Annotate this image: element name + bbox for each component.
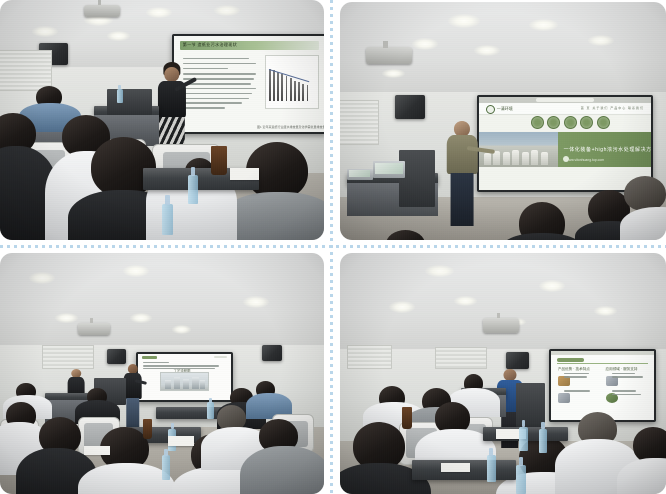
slide-surface: 工艺流程图 bbox=[138, 354, 231, 401]
seminar-photo-wide-room: 工艺流程图 bbox=[0, 253, 324, 494]
hero-banner: 一体化装备+high浓污水处理解决方案 www.vitonhuang.top.c… bbox=[479, 132, 651, 167]
window-blind bbox=[340, 100, 379, 145]
projection-screen: 工艺流程图 bbox=[136, 352, 233, 403]
collage-photo-top-right: 一清环境 首 页 关于我们 产品中心 联系我们 bbox=[340, 2, 666, 240]
collage-photo-bottom-right: 产品优势 · 技术特点 应用领域 · 服务支持 bbox=[340, 253, 666, 494]
feature-heading: 产品优势 · 技术特点 bbox=[558, 367, 590, 372]
ceiling-light-icon bbox=[474, 45, 500, 56]
feature-circle-icon bbox=[547, 116, 560, 129]
laptop bbox=[347, 169, 373, 181]
water-bottle bbox=[188, 175, 198, 204]
slide-badge bbox=[142, 356, 157, 359]
slide-report: 第一节 造纸业污水治理现状 bbox=[174, 36, 324, 133]
ceiling-light-icon bbox=[55, 313, 78, 323]
feature-item bbox=[558, 393, 570, 403]
ceiling-light-icon bbox=[454, 296, 477, 306]
collage-photo-bottom-left: 工艺流程图 bbox=[0, 253, 324, 494]
feature-circles bbox=[531, 116, 610, 129]
slide-chart bbox=[265, 55, 320, 109]
water-bottle bbox=[539, 429, 547, 453]
projection-screen: 第一节 造纸业污水治理现状 bbox=[172, 34, 324, 135]
browser-url-bar bbox=[536, 98, 594, 102]
hero-url: www.vitonhuang.top.com bbox=[566, 158, 604, 162]
slide-surface: 第一节 造纸业污水治理现状 bbox=[174, 36, 324, 133]
feature-heading: 应用领域 · 服务支持 bbox=[606, 367, 638, 372]
notepad bbox=[230, 168, 259, 180]
window-blind bbox=[347, 345, 393, 369]
ceiling-light-icon bbox=[123, 265, 149, 277]
slide-surface: 产品优势 · 技术特点 应用领域 · 服务支持 bbox=[551, 351, 655, 419]
slide-surface: 一清环境 首 页 关于我们 产品中心 联系我们 bbox=[479, 97, 651, 191]
ceiling-light-icon bbox=[107, 31, 130, 41]
coffee-cup bbox=[143, 419, 153, 438]
wall-speaker-icon bbox=[262, 345, 281, 362]
slide-section-badge bbox=[557, 358, 584, 363]
window-blind bbox=[0, 50, 52, 91]
ceiling-light-icon bbox=[588, 35, 614, 46]
seminar-photo-website-slide: 一清环境 首 页 关于我们 产品中心 联系我们 bbox=[340, 2, 666, 240]
av-cabinet bbox=[107, 89, 152, 115]
site-logo: 一清环境 bbox=[486, 105, 513, 114]
projection-screen: 一清环境 首 页 关于我们 产品中心 联系我们 bbox=[477, 95, 653, 193]
coffee-cup bbox=[211, 146, 227, 175]
water-bottle bbox=[207, 402, 214, 419]
slide-divider bbox=[557, 363, 648, 364]
feature-item bbox=[606, 376, 618, 386]
feature-icon bbox=[606, 376, 618, 386]
slide-diagram-image bbox=[160, 372, 208, 391]
site-brand-name: 一清环境 bbox=[497, 106, 513, 112]
slide-website: 一清环境 首 页 关于我们 产品中心 联系我们 bbox=[479, 97, 651, 191]
presenter-figure bbox=[441, 121, 483, 226]
water-bottle bbox=[516, 465, 526, 494]
projector-icon bbox=[483, 318, 519, 332]
av-cabinet bbox=[399, 150, 435, 207]
notepad bbox=[168, 436, 194, 446]
slide-diagram: 工艺流程图 bbox=[138, 354, 231, 401]
feature-circle-icon bbox=[597, 116, 610, 129]
water-bottle bbox=[117, 89, 123, 103]
divider-horizontal bbox=[0, 245, 666, 248]
wall-speaker-icon bbox=[107, 349, 126, 363]
thermos bbox=[402, 407, 412, 429]
logo-mark-icon bbox=[486, 105, 495, 114]
window-blind bbox=[42, 345, 94, 369]
feature-circle-icon bbox=[531, 116, 544, 129]
laptop bbox=[373, 161, 406, 178]
window-blind bbox=[435, 347, 487, 369]
photo-collage: 第一节 造纸业污水治理现状 bbox=[0, 0, 666, 494]
ceiling-light-icon bbox=[130, 313, 153, 323]
ceiling-light-icon bbox=[146, 7, 172, 18]
wall-speaker-icon bbox=[395, 95, 424, 119]
notepad bbox=[441, 463, 470, 473]
hero-green-panel: 一体化装备+high浓污水处理解决方案 www.vitonhuang.top.c… bbox=[558, 132, 651, 167]
slide-features: 产品优势 · 技术特点 应用领域 · 服务支持 bbox=[551, 351, 655, 419]
seminar-photo-presenter-pointing: 第一节 造纸业污水治理现状 bbox=[0, 0, 324, 240]
ceiling-light-icon bbox=[539, 280, 565, 292]
hero-title: 一体化装备+high浓污水处理解决方案 bbox=[564, 146, 651, 153]
projection-screen: 产品优势 · 技术特点 应用领域 · 服务支持 bbox=[549, 349, 657, 421]
wall-speaker-icon bbox=[506, 352, 529, 369]
ceiling-light-icon bbox=[594, 306, 617, 316]
feature-icon bbox=[558, 376, 570, 386]
projector-icon bbox=[366, 47, 412, 64]
water-bottle bbox=[487, 455, 496, 482]
ceiling-light-icon bbox=[425, 265, 454, 277]
water-bottle bbox=[162, 455, 170, 479]
browser-chrome bbox=[551, 351, 655, 355]
ceiling-light-icon bbox=[214, 5, 240, 16]
ceiling-light-icon bbox=[382, 69, 405, 79]
projector-icon bbox=[84, 5, 120, 17]
ceiling-light-icon bbox=[529, 19, 558, 31]
feature-item bbox=[558, 376, 570, 386]
ceiling-light-icon bbox=[412, 38, 438, 50]
audience-body bbox=[240, 446, 324, 494]
seminar-photo-feature-slide: 产品优势 · 技术特点 应用领域 · 服务支持 bbox=[340, 253, 666, 494]
notepad bbox=[84, 446, 110, 456]
feature-circle-icon bbox=[564, 116, 577, 129]
audience-table bbox=[156, 407, 227, 419]
ceiling-light-icon bbox=[172, 325, 191, 333]
feature-circle-icon bbox=[580, 116, 593, 129]
slide-chart-caption: 图1 近年来造纸行业废水排放量及化学需氧量排放量变化趋势 bbox=[257, 125, 324, 129]
water-bottle bbox=[162, 204, 173, 235]
slide-corner-badge bbox=[214, 356, 227, 358]
projector-icon bbox=[78, 323, 110, 335]
site-nav-links: 首 页 关于我们 产品中心 联系我们 bbox=[581, 106, 644, 110]
feature-icon bbox=[558, 393, 570, 403]
av-cabinet bbox=[516, 383, 545, 426]
water-bottle bbox=[519, 427, 527, 451]
collage-photo-top-left: 第一节 造纸业污水治理现状 bbox=[0, 0, 324, 240]
slide-header-title: 第一节 造纸业污水治理现状 bbox=[183, 42, 237, 48]
